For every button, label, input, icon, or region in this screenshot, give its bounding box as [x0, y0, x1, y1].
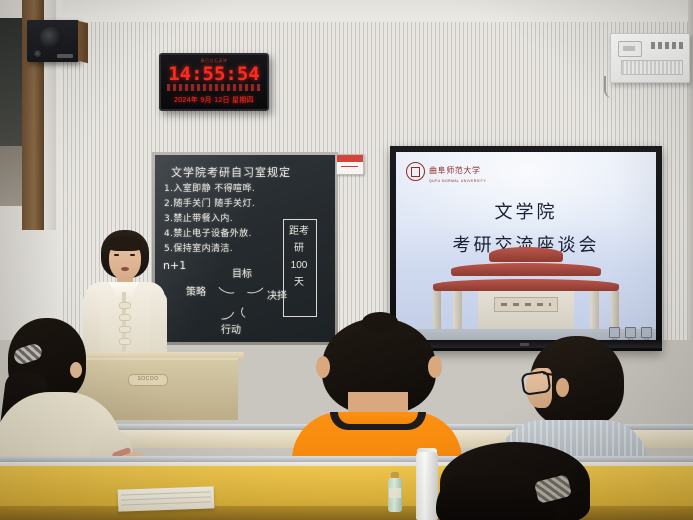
speaker-button-3	[119, 326, 131, 333]
notes-icon[interactable]: 批注	[625, 327, 636, 338]
university-seal-icon	[406, 162, 425, 181]
unit-display-icon	[618, 41, 642, 57]
clock-date-display: 2024年 9月 12日 星期四	[161, 95, 267, 105]
speaker-fringe	[107, 236, 143, 251]
screen-sensor-icon	[520, 343, 529, 346]
white-thermos-bottle	[416, 452, 438, 520]
blackboard-rule-5: 5.保持室内清洁.	[164, 241, 233, 254]
unit-power-cord	[604, 76, 616, 98]
university-name-en: QUFU NORMAL UNIVERSITY	[429, 179, 486, 183]
gate-roof-wide	[433, 279, 619, 291]
slide-show-icon[interactable]: 放映	[609, 327, 620, 338]
stack-of-papers	[118, 486, 215, 511]
speaker-button-2	[119, 314, 131, 321]
classroom-photo: 康巴丝石英钟 14:55:54 2024年 9月 12日 星期四 文学院考研自习…	[0, 0, 693, 520]
student-center-hair-tuft	[362, 312, 398, 332]
unit-vent-grille	[621, 60, 683, 75]
speaker-button-4	[119, 338, 131, 345]
slide-title-line1: 文学院	[396, 198, 656, 224]
podium-badge: SOCOO	[128, 374, 168, 386]
blackboard-rule-2: 2.随手关门 随手关灯.	[164, 196, 255, 209]
speaker-button-1	[119, 302, 131, 309]
speaker-mouth	[121, 267, 129, 271]
blackboard-rule-3: 3.禁止带餐入内.	[164, 211, 233, 224]
blackboard-diagram-bottom: 行动	[221, 321, 241, 336]
podium-badge-label: SOCOO	[129, 375, 167, 384]
wall-control-unit[interactable]	[610, 33, 690, 83]
student-right-ear	[556, 378, 569, 397]
projection-screen-frame: 曲阜师范大学 QUFU NORMAL UNIVERSITY 文学院 考研交流座谈…	[390, 146, 662, 351]
speaker-tweeter-icon	[34, 50, 41, 57]
blackboard-title: 文学院考研自习室规定	[171, 164, 291, 180]
student-left-ear	[70, 362, 82, 378]
blackboard-rule-4: 4.禁止电子设备外放.	[164, 226, 252, 239]
student-center-ear-left	[316, 356, 330, 378]
clock-scrolling-bar	[167, 84, 261, 91]
clock-time-display: 14:55:54	[161, 63, 267, 85]
led-wall-clock: 康巴丝石英钟 14:55:54 2024年 9月 12日 星期四	[159, 53, 269, 111]
blackboard-rule-1: 1.入室即静 不得喧哗.	[164, 181, 255, 194]
speaker-bracket	[78, 21, 88, 63]
student-center-collar-inner	[338, 412, 418, 424]
settings-icon[interactable]: 设置	[641, 327, 652, 338]
speaker-cone-icon	[40, 27, 62, 49]
gate-roof-top	[489, 247, 563, 262]
green-drink-bottle	[388, 478, 402, 512]
wall-top-band	[0, 0, 693, 22]
blackboard: 文学院考研自习室规定 1.入室即静 不得喧哗. 2.随手关门 随手关灯. 3.禁…	[155, 155, 335, 342]
projection-screen[interactable]: 曲阜师范大学 QUFU NORMAL UNIVERSITY 文学院 考研交流座谈…	[396, 152, 656, 341]
countdown-text: 距考研100天	[286, 223, 312, 291]
left-lower-panel	[0, 146, 22, 206]
red-notice-card	[336, 154, 364, 175]
university-logo: 曲阜师范大学 QUFU NORMAL UNIVERSITY	[406, 160, 486, 183]
unit-indicator-lights	[651, 42, 683, 49]
student-center-ear-right	[428, 356, 442, 378]
slide-toolbar[interactable]: 放映 批注 设置	[609, 327, 652, 338]
speaker-eye-right	[130, 254, 135, 256]
university-name-cn: 曲阜师范大学	[429, 166, 481, 175]
blackboard-diagram-left: 策略	[186, 287, 206, 299]
blackboard-diagram-top: 目标	[232, 265, 252, 280]
speaker-person	[83, 230, 167, 365]
speaker-eye-left	[114, 254, 119, 256]
gate-roof-mid	[451, 263, 601, 276]
ceiling-speaker	[27, 20, 79, 62]
speaker-brand-label	[57, 54, 73, 58]
